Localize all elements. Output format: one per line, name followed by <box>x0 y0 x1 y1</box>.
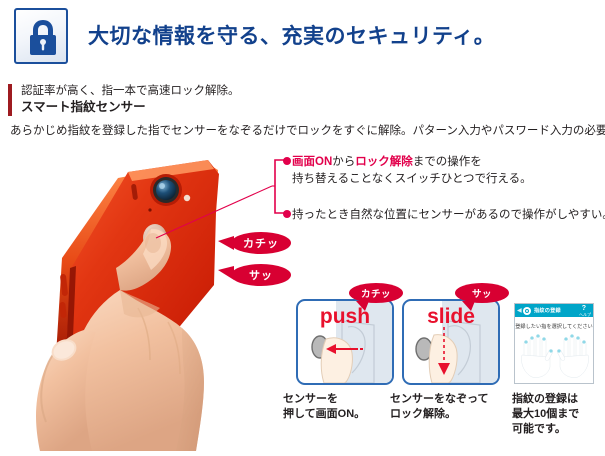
caption-slide-line1: センサーをなぞって <box>390 392 488 407</box>
subhead-line1: 認証率が高く、指一本で高速ロック解除。 <box>21 84 240 99</box>
step-word-slide: slide <box>404 305 498 329</box>
help-label[interactable]: ヘルプ <box>579 312 591 318</box>
page-header: 大切な情報を守る、充実のセキュリティ。 <box>0 0 605 72</box>
callout-1-line2: 持ち替えることなくスイッチひとつで行える。 <box>292 171 532 188</box>
padlock-icon <box>14 8 68 64</box>
callout-item-2: 持ったとき自然な位置にセンサーがあるので操作がしやすい。 <box>292 207 605 224</box>
note-text: 指紋の登録は 最大10個まで 可能です。 <box>512 392 579 438</box>
bubble-satt-slide: サッ <box>455 283 509 303</box>
fingerprint-icon <box>523 307 531 315</box>
phone-photo-illustration <box>0 150 290 451</box>
step-panel-slide: slide <box>402 299 500 385</box>
callout-2-line1: 持ったとき自然な位置にセンサーがあるので操作がしやすい。 <box>292 207 605 224</box>
step-word-push: push <box>298 305 392 329</box>
padlock-glyph <box>27 18 59 58</box>
two-hands-fingerprint-selector[interactable] <box>518 333 592 381</box>
step-panel-push: push <box>296 299 394 385</box>
screen-title: 指紋の登録 <box>534 307 561 314</box>
phone-screen-mock: ◀ 指紋の登録 ? ヘルプ 登録したい指を選択してください <box>514 303 594 384</box>
caption-slide: センサーをなぞって ロック解除。 <box>390 392 488 422</box>
help-icon[interactable]: ? <box>582 305 586 312</box>
callout-1-plain-2: までの操作を <box>413 156 482 168</box>
caption-push: センサーを 押して画面ON。 <box>283 392 365 422</box>
caption-push-line1: センサーを <box>283 392 365 407</box>
callout-1-plain-1: から <box>332 156 355 168</box>
note-line2: 最大10個まで <box>512 407 579 422</box>
caption-slide-line2: ロック解除。 <box>390 407 488 422</box>
bullet-dot-icon <box>283 157 291 165</box>
back-chevron-icon[interactable]: ◀ <box>517 307 522 314</box>
callout-1-highlight-1: 画面ON <box>292 156 332 168</box>
caption-push-line2: 押して画面ON。 <box>283 407 365 422</box>
bullet-dot-icon <box>283 210 291 218</box>
callout-1-line1: 画面ONからロック解除までの操作を <box>292 154 532 171</box>
bubble-satt-main: サッ <box>231 264 291 286</box>
page-title: 大切な情報を守る、充実のセキュリティ。 <box>88 20 495 50</box>
note-line1: 指紋の登録は <box>512 392 579 407</box>
lede-paragraph: あらかじめ指紋を登録した指でセンサーをなぞるだけでロックをすぐに解除。パターン入… <box>10 122 605 138</box>
screen-titlebar: ◀ 指紋の登録 ? ヘルプ <box>515 304 593 317</box>
callout-list: 画面ONからロック解除までの操作を 持ち替えることなくスイッチひとつで行える。 … <box>270 150 605 225</box>
callout-item-1: 画面ONからロック解除までの操作を 持ち替えることなくスイッチひとつで行える。 <box>292 154 532 187</box>
hand-holding-phone-photo <box>0 150 290 451</box>
subhead-line2: スマート指紋センサー <box>21 99 240 116</box>
callout-1-highlight-2: ロック解除 <box>355 156 413 168</box>
screen-instruction: 登録したい指を選択してください <box>515 323 593 330</box>
bubble-katchi-main: カチッ <box>231 232 291 254</box>
bubble-katchi-push: カチッ <box>349 283 403 303</box>
note-line3: 可能です。 <box>512 422 579 437</box>
subhead-block: 認証率が高く、指一本で高速ロック解除。 スマート指紋センサー <box>8 84 240 116</box>
